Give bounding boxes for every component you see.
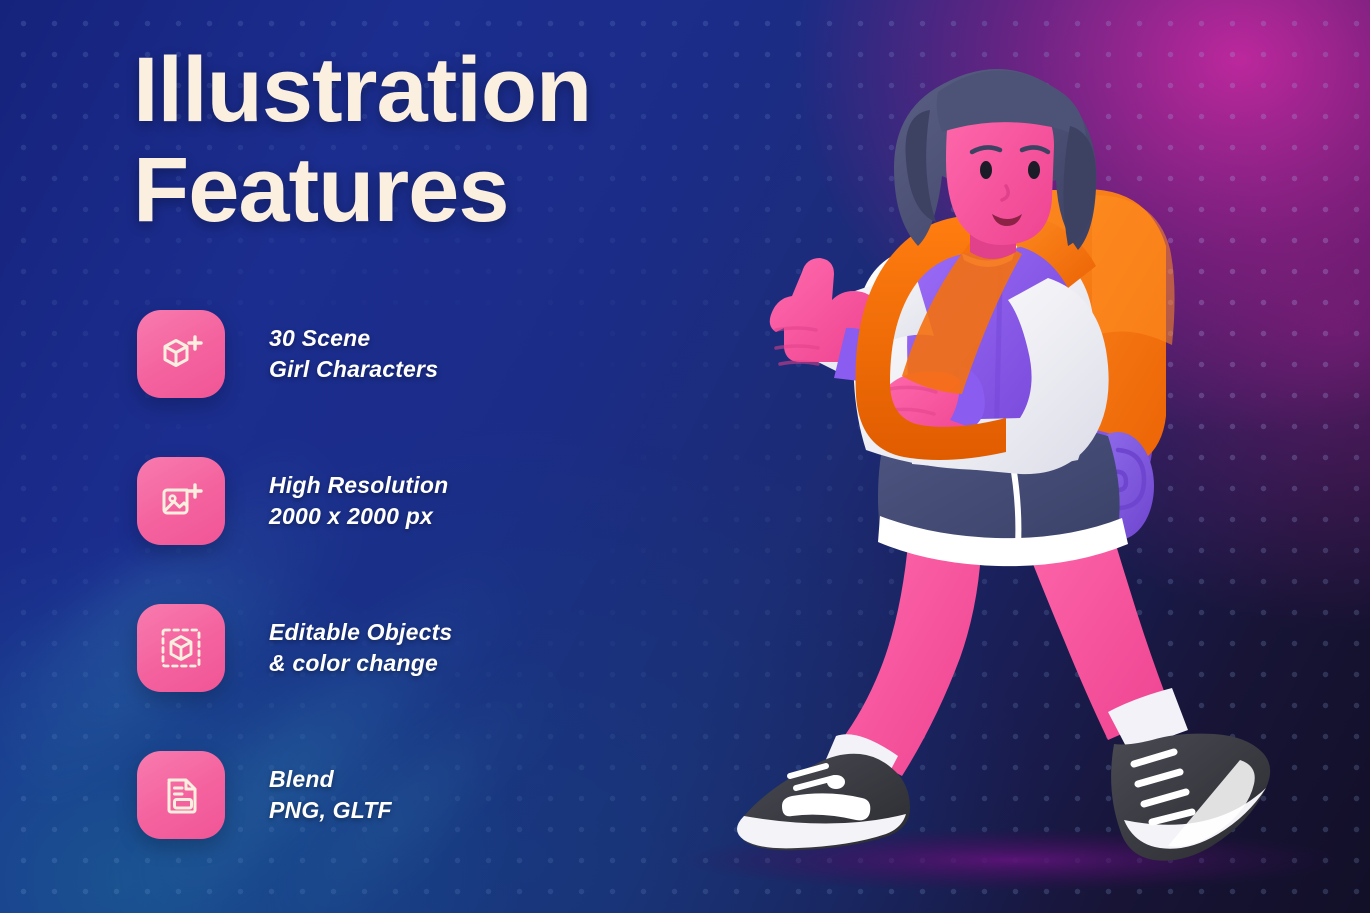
shoe-back	[737, 754, 910, 851]
feature-item: Editable Objects & color change	[137, 604, 657, 692]
feature-label: 30 Scene Girl Characters	[269, 323, 438, 384]
head	[894, 69, 1096, 259]
feature-label-line-2: PNG, GLTF	[269, 795, 392, 826]
feature-label: High Resolution 2000 x 2000 px	[269, 470, 448, 531]
feature-label-line-1: Blend	[269, 764, 392, 795]
editable-cube-icon	[137, 604, 225, 692]
feature-label-line-1: High Resolution	[269, 470, 448, 501]
feature-item: Blend PNG, GLTF	[137, 751, 657, 839]
poster-canvas: Illustration Features 30 Scene Girl Char…	[0, 0, 1370, 913]
hiker-character-illustration	[640, 0, 1370, 913]
feature-label-line-1: 30 Scene	[269, 323, 438, 354]
cube-plus-icon	[137, 310, 225, 398]
page-title-line-2: Features	[133, 145, 591, 235]
file-document-icon	[137, 751, 225, 839]
feature-label-line-2: & color change	[269, 648, 452, 679]
image-plus-icon	[137, 457, 225, 545]
feature-label-line-1: Editable Objects	[269, 617, 452, 648]
feature-label-line-2: 2000 x 2000 px	[269, 501, 448, 532]
page-title: Illustration Features	[133, 45, 591, 235]
feature-label-line-2: Girl Characters	[269, 354, 438, 385]
content-column: Illustration Features 30 Scene Girl Char…	[0, 0, 720, 913]
feature-list: 30 Scene Girl Characters High Resolution	[137, 310, 657, 898]
feature-item: High Resolution 2000 x 2000 px	[137, 457, 657, 545]
feature-label: Editable Objects & color change	[269, 617, 452, 678]
feature-label: Blend PNG, GLTF	[269, 764, 392, 825]
feature-item: 30 Scene Girl Characters	[137, 310, 657, 398]
page-title-line-1: Illustration	[133, 45, 591, 135]
